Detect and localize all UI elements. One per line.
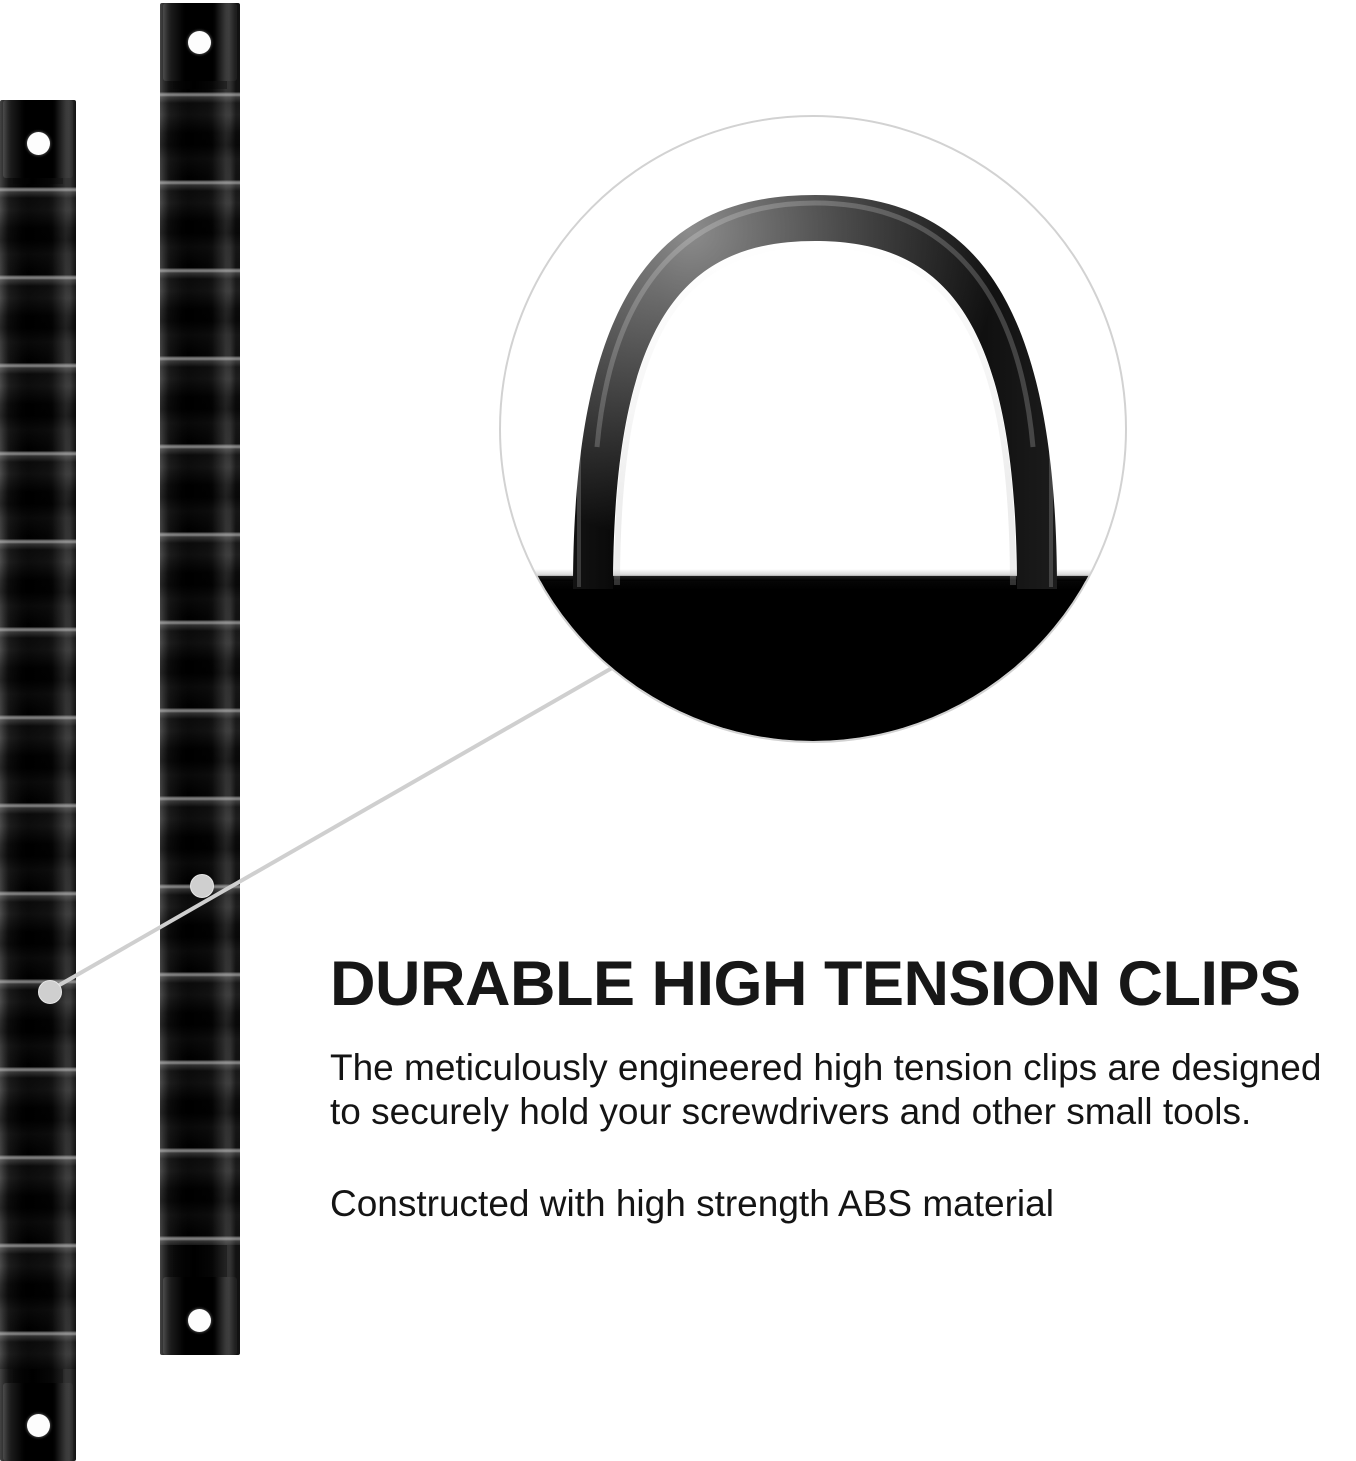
page-title: DURABLE HIGH TENSION CLIPS: [330, 952, 1346, 1016]
screwdriver-rail-right: [160, 3, 240, 1355]
rail-clip-segments-left: [0, 184, 76, 1369]
mounting-hole-bottom-right: [188, 1309, 211, 1332]
high-tension-clip-arch: [501, 117, 1127, 743]
leader-anchor-dot-upper: [190, 874, 214, 898]
mounting-hole-bottom-left: [27, 1414, 50, 1437]
mounting-hole-top-right: [188, 31, 211, 54]
leader-anchor-dot-lower: [38, 980, 62, 1004]
mounting-hole-top-left: [27, 132, 50, 155]
feature-description: The meticulously engineered high tension…: [330, 1046, 1346, 1134]
screwdriver-rail-left: [0, 100, 76, 1461]
clip-arch-body: [573, 195, 1057, 589]
clip-closeup-magnifier: [499, 115, 1127, 743]
rail-clip-segments-right: [160, 89, 240, 1245]
feature-text-block: DURABLE HIGH TENSION CLIPS The meticulou…: [330, 952, 1346, 1226]
product-feature-image: DURABLE HIGH TENSION CLIPS The meticulou…: [0, 0, 1356, 1461]
material-note: Constructed with high strength ABS mater…: [330, 1182, 1346, 1226]
